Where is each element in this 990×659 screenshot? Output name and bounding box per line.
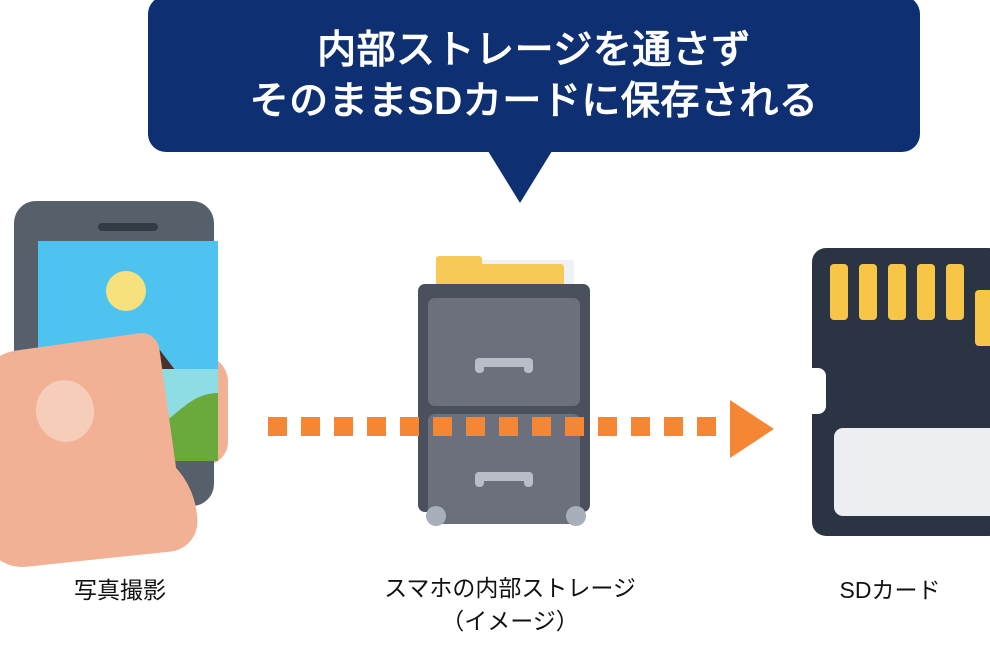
phone-speaker-icon — [98, 223, 158, 231]
caption-internal-storage: スマホの内部ストレージ （イメージ） — [310, 572, 710, 639]
arrow-dash — [631, 417, 650, 436]
arrow-dash — [367, 417, 386, 436]
step-sd-card-illustration — [812, 248, 990, 536]
caption-line: 写真撮影 — [0, 574, 240, 607]
arrow-dash — [466, 417, 485, 436]
sd-contact-pin — [888, 264, 906, 320]
arrow-dash — [664, 417, 683, 436]
callout-tail-icon — [488, 151, 552, 203]
arrow-dash — [499, 417, 518, 436]
sd-card-body — [812, 248, 990, 536]
arrow-dash — [334, 417, 353, 436]
sd-card-notch — [810, 368, 826, 414]
step-photo-capture-illustration — [0, 195, 250, 555]
cabinet-drawer-top[interactable] — [428, 298, 580, 406]
sd-contact-pin — [859, 264, 877, 320]
arrow-dash — [400, 417, 419, 436]
arrow-head-icon — [730, 400, 774, 458]
arrow-dash — [532, 417, 551, 436]
cabinet-handle-top-icon — [475, 358, 533, 367]
arrow-dash — [565, 417, 584, 436]
sd-contact-pin — [975, 290, 990, 346]
caption-line: SDカード — [790, 574, 990, 607]
arrow-dash — [433, 417, 452, 436]
flow-connector-arrow — [268, 410, 778, 450]
caption-line: スマホの内部ストレージ — [310, 572, 710, 605]
arrow-dash — [301, 417, 320, 436]
arrow-dash — [598, 417, 617, 436]
sd-contact-pin — [830, 264, 848, 320]
caption-line: （イメージ） — [310, 605, 710, 638]
callout-bubble: 内部ストレージを通さず そのままSDカードに保存される — [148, 0, 920, 152]
step-internal-storage-illustration — [400, 250, 620, 540]
arrow-dash — [697, 417, 716, 436]
caption-sd-card: SDカード — [790, 574, 990, 607]
sd-card-label-area — [834, 428, 990, 516]
cabinet-handle-bottom-icon — [475, 472, 533, 481]
callout-line-2: そのままSDカードに保存される — [250, 76, 819, 127]
sd-contact-pin — [946, 264, 964, 320]
photo-sun-icon — [106, 271, 146, 311]
arrow-dash — [268, 417, 287, 436]
callout-line-1: 内部ストレージを通さず — [317, 25, 751, 76]
diagram-canvas: 内部ストレージを通さず そのままSDカードに保存される — [0, 0, 990, 659]
cabinet-wheel-right — [566, 506, 586, 526]
cabinet-wheel-left — [426, 506, 446, 526]
sd-contact-pin — [917, 264, 935, 320]
caption-photo-capture: 写真撮影 — [0, 574, 240, 607]
